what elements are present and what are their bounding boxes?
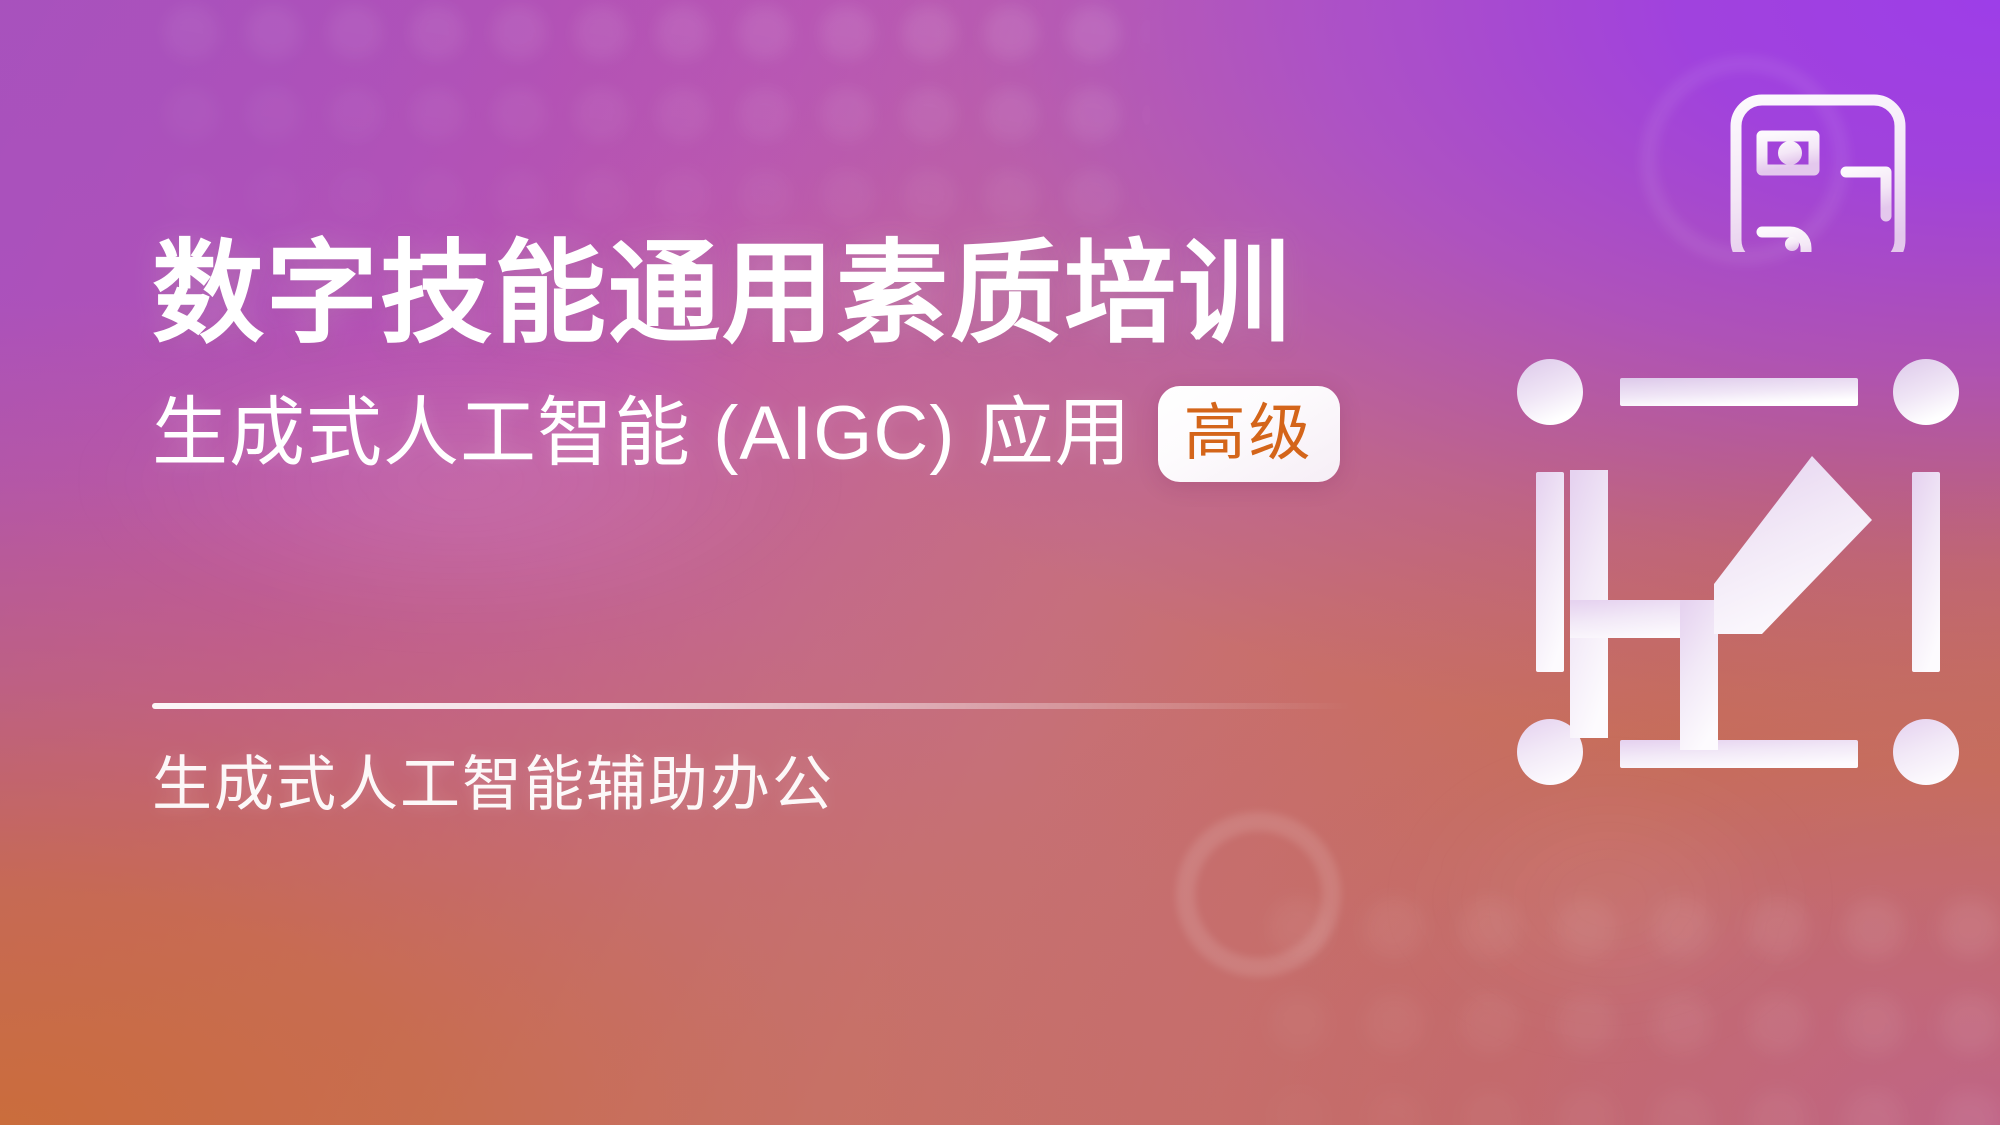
level-badge: 高级 xyxy=(1158,386,1340,482)
level-badge-label: 高级 xyxy=(1184,403,1314,465)
design-frame-pencil-icon xyxy=(1512,352,1964,792)
tagline: 生成式人工智能辅助办公 xyxy=(152,755,834,815)
subtitle: 生成式人工智能 (AIGC) 应用 xyxy=(152,396,1132,472)
circuit-chip-icon xyxy=(1728,92,1908,252)
divider xyxy=(152,703,1352,709)
course-banner: 数字技能通用素质培训 生成式人工智能 (AIGC) 应用 高级 生成式人工智能辅… xyxy=(0,0,2000,1125)
banner-content: 数字技能通用素质培训 生成式人工智能 (AIGC) 应用 高级 生成式人工智能辅… xyxy=(152,0,1402,1125)
subtitle-row: 生成式人工智能 (AIGC) 应用 高级 xyxy=(152,386,1340,482)
light-blob xyxy=(1400,760,1820,1040)
page-title: 数字技能通用素质培训 xyxy=(152,238,1292,350)
